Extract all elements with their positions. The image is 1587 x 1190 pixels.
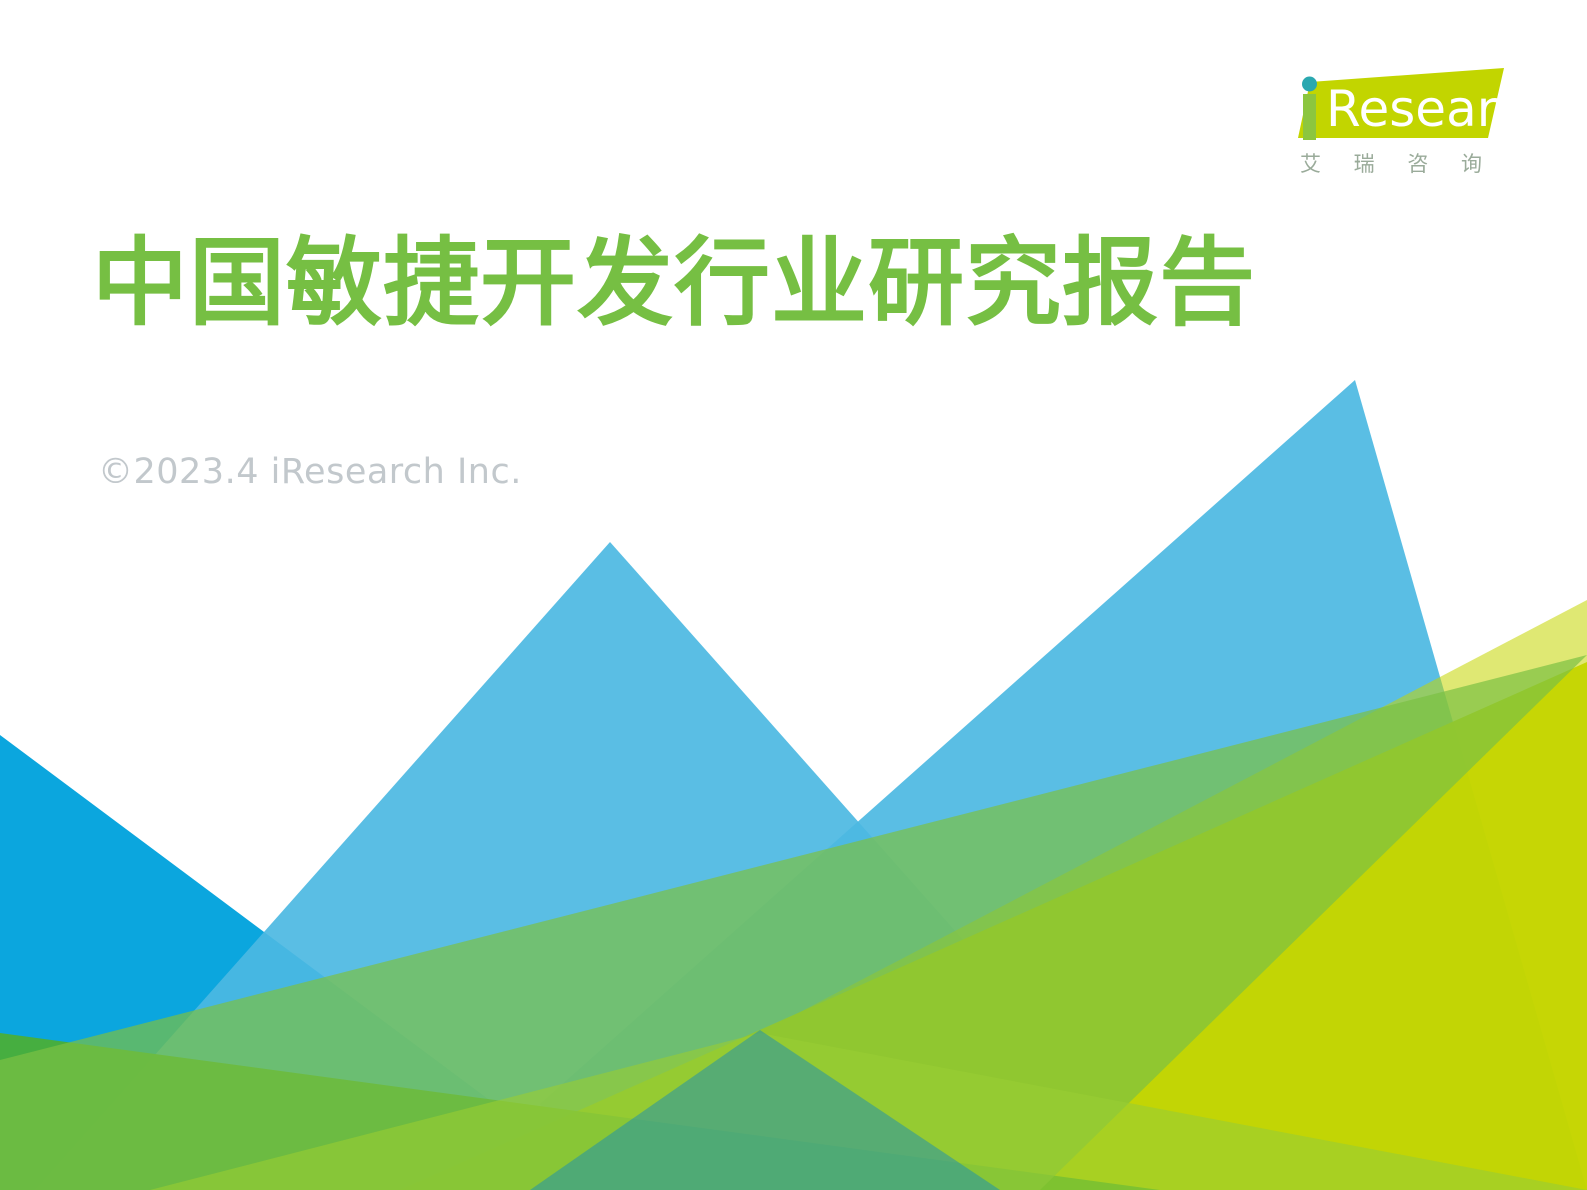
page-title: 中国敏捷开发行业研究报告 [92,232,1256,336]
report-cover-slide: Research 艾 瑞 咨 询 中国敏捷开发行业研究报告 ©2023.4 iR… [0,0,1587,1190]
iresearch-logo-mark: Research [1272,68,1504,148]
copyright-notice: ©2023.4 iResearch Inc. [98,452,522,492]
logo-i-stem [1303,94,1316,140]
logo-wordmark: Research [1326,80,1504,138]
iresearch-logo: Research 艾 瑞 咨 询 [1272,68,1504,188]
logo-i-dot [1302,77,1317,92]
logo-subtitle-cn: 艾 瑞 咨 询 [1278,148,1504,178]
